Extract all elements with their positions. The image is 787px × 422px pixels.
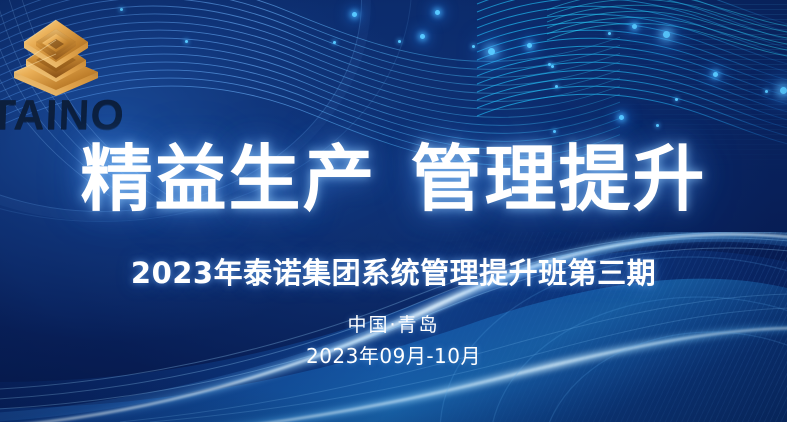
page-title: 精益生产管理提升 [0, 143, 787, 215]
event-poster: TAINO 精益生产管理提升 2023年泰诺集团系统管理提升班第三期 中国·青岛… [0, 0, 787, 422]
subtitle: 2023年泰诺集团系统管理提升班第三期 [0, 250, 787, 292]
brand-logo: TAINO [0, 8, 160, 128]
stacked-diamond-logo-icon [10, 16, 102, 96]
date-range-text: 2023年09月-10月 [0, 340, 787, 369]
brand-wordmark: TAINO [0, 91, 126, 139]
headline-part-1: 精益生产 [80, 137, 376, 221]
headline-part-2: 管理提升 [411, 137, 707, 221]
location-text: 中国·青岛 [0, 310, 787, 337]
